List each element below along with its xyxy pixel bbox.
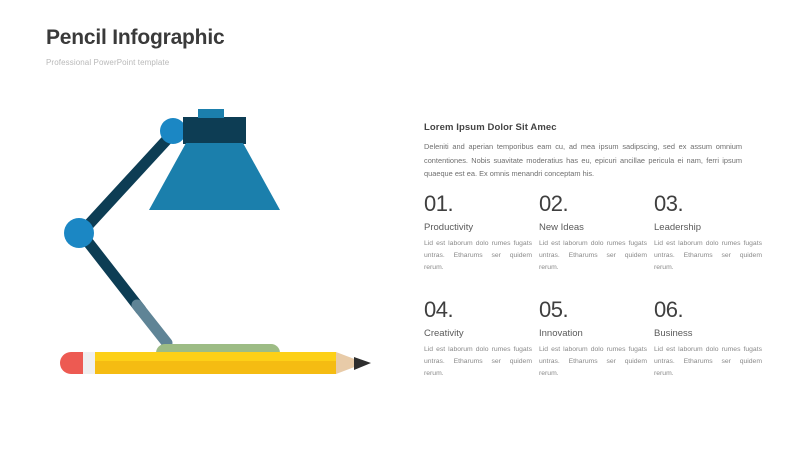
lead-title: Lorem Ipsum Dolor Sit Amec — [424, 122, 764, 133]
item-title: Creativity — [424, 328, 532, 339]
item-title: Productivity — [424, 222, 532, 233]
item-title: Leadership — [654, 222, 762, 233]
pencil-graphite-point — [354, 357, 371, 370]
lamp-lower-arm — [81, 233, 167, 343]
infographic-item[interactable]: 03. Leadership Lid est laborum dolo rume… — [654, 193, 762, 274]
pencil-eraser — [60, 352, 83, 374]
item-body: Lid est laborum dolo rumes fugats untras… — [424, 238, 532, 274]
item-title: New Ideas — [539, 222, 647, 233]
item-number: 04. — [424, 299, 532, 321]
infographic-item[interactable]: 02. New Ideas Lid est laborum dolo rumes… — [539, 193, 647, 274]
item-body: Lid est laborum dolo rumes fugats untras… — [539, 238, 647, 274]
infographic-item[interactable]: 06. Business Lid est laborum dolo rumes … — [654, 299, 762, 380]
item-title: Business — [654, 328, 762, 339]
lamp-head-hinge — [160, 118, 186, 144]
lamp-upper-arm — [81, 133, 173, 233]
desk-lamp-and-pencil-illustration — [55, 105, 385, 390]
item-body: Lid est laborum dolo rumes fugats untras… — [424, 344, 532, 380]
slide-canvas: Pencil Infographic Professional PowerPoi… — [0, 0, 800, 450]
lead-section: Lorem Ipsum Dolor Sit Amec Deleniti and … — [424, 122, 764, 181]
infographic-item[interactable]: 05. Innovation Lid est laborum dolo rume… — [539, 299, 647, 380]
item-body: Lid est laborum dolo rumes fugats untras… — [654, 344, 762, 380]
infographic-items-grid: 01. Productivity Lid est laborum dolo ru… — [424, 193, 769, 380]
infographic-item[interactable]: 01. Productivity Lid est laborum dolo ru… — [424, 193, 532, 274]
page-title: Pencil Infographic — [46, 26, 224, 49]
slide-header: Pencil Infographic Professional PowerPoi… — [46, 26, 224, 67]
item-number: 01. — [424, 193, 532, 215]
lamp-pivot-joint — [64, 218, 94, 248]
item-number: 03. — [654, 193, 762, 215]
item-number: 06. — [654, 299, 762, 321]
lamp-shade — [149, 143, 280, 210]
item-body: Lid est laborum dolo rumes fugats untras… — [654, 238, 762, 274]
pencil-ferrule — [81, 352, 95, 374]
lamp-head-block — [183, 117, 246, 144]
page-subtitle: Professional PowerPoint template — [46, 58, 224, 67]
pencil — [60, 352, 371, 374]
item-number: 05. — [539, 299, 647, 321]
pencil-body-highlight — [92, 352, 336, 361]
item-number: 02. — [539, 193, 647, 215]
item-body: Lid est laborum dolo rumes fugats untras… — [539, 344, 647, 380]
lead-body: Deleniti and aperian temporibus eam cu, … — [424, 140, 742, 181]
lamp-top-knob — [198, 109, 224, 118]
infographic-item[interactable]: 04. Creativity Lid est laborum dolo rume… — [424, 299, 532, 380]
item-title: Innovation — [539, 328, 647, 339]
